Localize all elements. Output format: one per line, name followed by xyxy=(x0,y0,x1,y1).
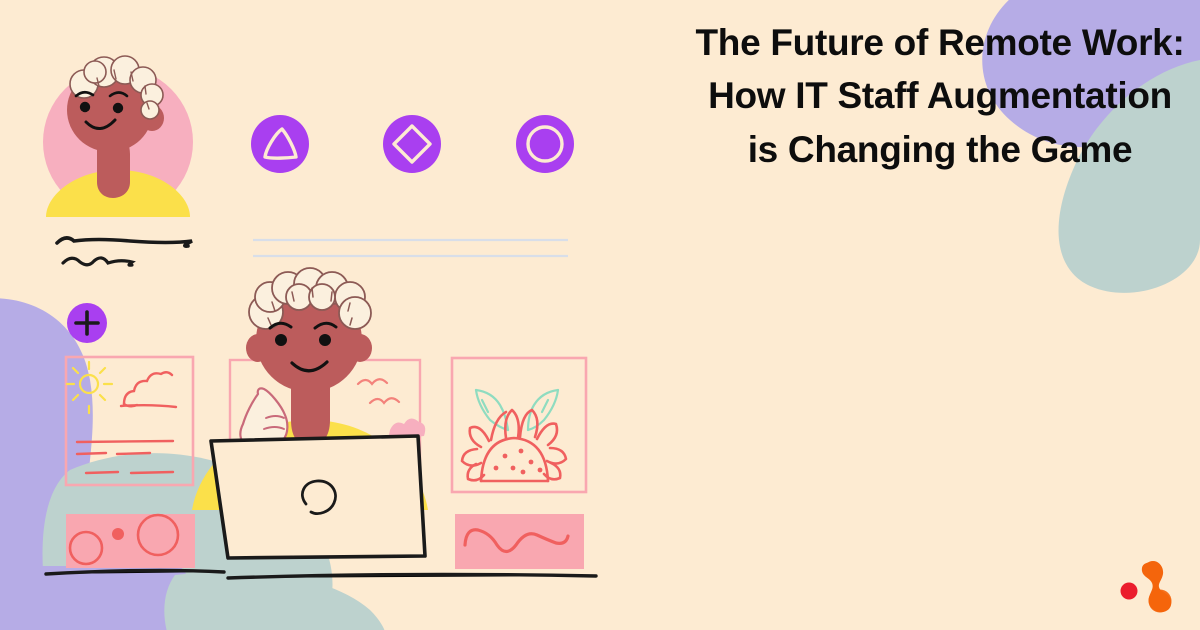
logo-circle-orange xyxy=(1149,590,1172,613)
laptop-body xyxy=(211,436,425,558)
logo-circle-orange-top xyxy=(1144,561,1162,579)
brand-logo[interactable] xyxy=(1112,552,1184,616)
logo-dot-red xyxy=(1121,583,1138,600)
page-title-text: The Future of Remote Work: How IT Staff … xyxy=(690,16,1190,176)
page-title: The Future of Remote Work: How IT Staff … xyxy=(690,16,1190,176)
desk-line xyxy=(46,570,596,578)
